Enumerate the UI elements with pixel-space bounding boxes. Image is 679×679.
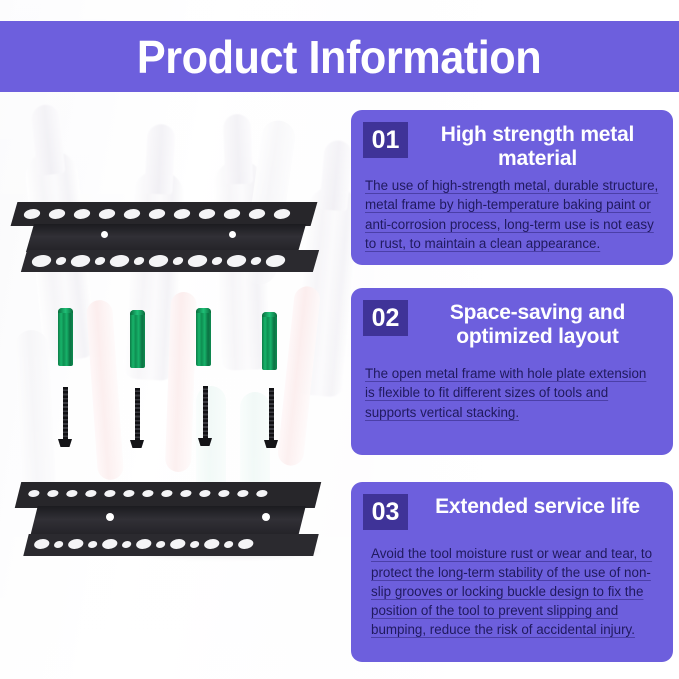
rack-top-plate — [15, 482, 321, 508]
screw-head — [58, 439, 72, 447]
rack-hole — [237, 490, 250, 497]
feature-number-badge: 01 — [363, 122, 408, 158]
rack-hole — [142, 490, 155, 497]
wall-anchor — [196, 308, 211, 366]
product-image-column — [0, 92, 345, 679]
rack-hole — [23, 209, 42, 219]
rack-mount-hole — [106, 513, 114, 521]
rack-hole — [73, 209, 92, 219]
rack-hole — [169, 539, 186, 549]
rack-hole — [108, 255, 130, 267]
screw-head — [198, 438, 212, 446]
feature-card-03: 03 Extended service life Avoid the tool … — [351, 482, 673, 662]
rack-bottom-plate — [23, 534, 318, 556]
rack-hole — [173, 209, 192, 219]
rack-hole — [225, 255, 247, 267]
rack-hole-row — [28, 490, 269, 497]
rack-hole — [237, 539, 254, 549]
rack-hole — [33, 539, 50, 549]
screw-shaft — [203, 386, 208, 440]
rack-hole — [66, 490, 79, 497]
rack-hole — [155, 541, 166, 548]
rack-hole — [211, 257, 223, 265]
rack-hole — [123, 209, 142, 219]
rack-hole — [48, 209, 67, 219]
rack-bottom-plate — [21, 250, 319, 272]
rack-hole — [67, 539, 84, 549]
wall-anchor — [262, 312, 277, 370]
rack-hole — [30, 255, 52, 267]
mounting-screw — [198, 386, 212, 446]
feature-description: The use of high-strength metal, durable … — [363, 176, 659, 252]
rack-hole — [69, 255, 91, 267]
screw-shaft — [269, 388, 274, 442]
feature-card-header: 03 Extended service life — [363, 494, 659, 530]
rack-hole — [123, 490, 136, 497]
screw-shaft — [135, 388, 140, 442]
rack-hole — [101, 539, 118, 549]
rack-hole — [28, 490, 41, 497]
rack-mount-hole — [101, 231, 108, 238]
feature-title: Extended service life — [418, 494, 659, 519]
feature-description: The open metal frame with hole plate ext… — [363, 364, 659, 421]
feature-card-01: 01 High strength metal material The use … — [351, 110, 673, 265]
feature-card-header: 01 High strength metal material — [363, 122, 659, 170]
feature-title: High strength metal material — [418, 122, 659, 170]
rack-top-plate — [11, 202, 318, 226]
rack-hole-row — [30, 255, 286, 267]
rack-hole — [186, 255, 208, 267]
rack-hole — [218, 490, 231, 497]
feature-card-list: 01 High strength metal material The use … — [345, 0, 679, 679]
rack-hole — [148, 209, 167, 219]
rack-hole — [104, 490, 117, 497]
rack-hole — [121, 541, 132, 548]
rack-hole — [53, 541, 64, 548]
rack-hole — [98, 209, 117, 219]
rack-hole — [161, 490, 174, 497]
rack-mount-hole — [229, 231, 236, 238]
rack-hole — [55, 257, 67, 265]
rack-hole — [223, 209, 242, 219]
feature-number-badge: 03 — [363, 494, 408, 530]
rack-hole — [94, 257, 106, 265]
rack-hole-row — [33, 539, 254, 549]
rack-hole — [198, 209, 217, 219]
rack-hole — [199, 490, 212, 497]
mounting-screw — [58, 387, 72, 447]
rack-hole — [223, 541, 234, 548]
rack-hole — [250, 257, 262, 265]
wall-anchor — [130, 310, 145, 368]
screw-head — [264, 440, 278, 448]
rack-hole-row — [23, 209, 292, 219]
rack-hole — [147, 255, 169, 267]
rack-hole — [248, 209, 267, 219]
screw-head — [130, 440, 144, 448]
rack-hole — [85, 490, 98, 497]
rack-hole — [203, 539, 220, 549]
feature-description: Avoid the tool moisture rust or wear and… — [363, 544, 659, 639]
rack-hole — [273, 209, 292, 219]
rack-hole — [133, 257, 145, 265]
rack-hole — [135, 539, 152, 549]
feature-card-header: 02 Space-saving and optimized layout — [363, 300, 659, 348]
rack-hole — [264, 255, 286, 267]
rack-face-panel — [30, 506, 305, 536]
feature-title: Space-saving and optimized layout — [418, 300, 659, 348]
rack-hole — [189, 541, 200, 548]
feature-card-02: 02 Space-saving and optimized layout The… — [351, 288, 673, 455]
rack-hole — [47, 490, 60, 497]
screw-shaft — [63, 387, 68, 441]
feature-number-badge: 02 — [363, 300, 408, 336]
wall-anchor — [58, 308, 73, 366]
rack-hole — [172, 257, 184, 265]
mounting-screw — [264, 388, 278, 448]
rack-face-panel — [26, 224, 306, 252]
rack-hole — [180, 490, 193, 497]
mounting-screw — [130, 388, 144, 448]
rack-hole — [256, 490, 269, 497]
rack-hole — [87, 541, 98, 548]
product-information-infographic: Product Information — [0, 0, 679, 679]
rack-mount-hole — [262, 513, 270, 521]
